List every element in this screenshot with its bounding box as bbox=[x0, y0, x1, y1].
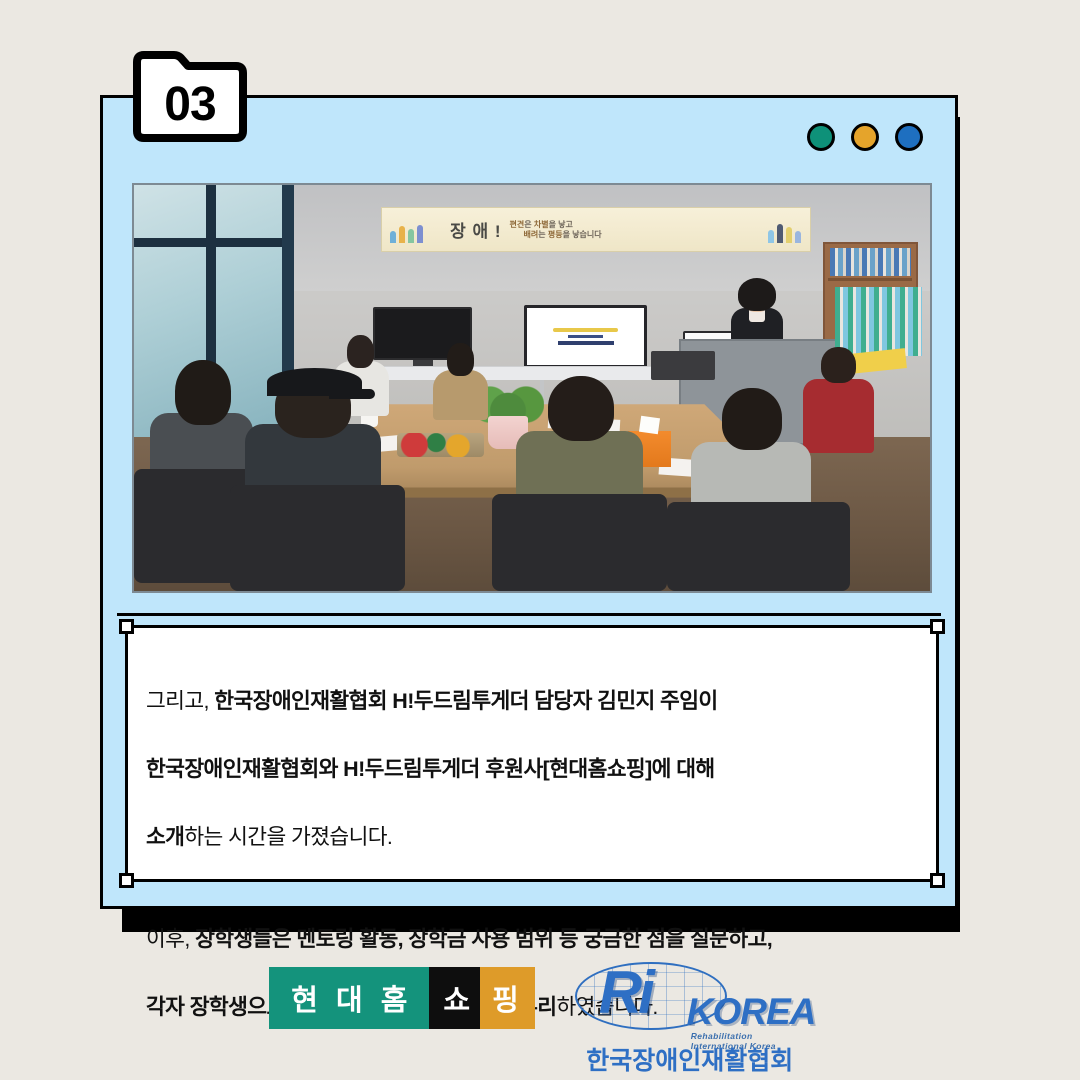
banner-text-2b: 는 bbox=[538, 230, 548, 239]
resize-handle-top-right[interactable] bbox=[930, 619, 945, 634]
flower-arrangement bbox=[397, 433, 485, 457]
banner-word-consideration: 배려 bbox=[524, 230, 539, 239]
folder-tab-badge: 03 bbox=[130, 48, 250, 145]
meeting-room-photo: 장 애 ! 편견은 차별을 낳고 배려는 평등을 낳습니다 bbox=[134, 185, 930, 591]
section-divider bbox=[117, 613, 941, 616]
banner-figures-left bbox=[390, 216, 423, 243]
banner-word-equality: 평등 bbox=[548, 230, 563, 239]
hyundai-home-shopping-logo: 현 대 홈 쇼 핑 bbox=[269, 967, 535, 1029]
chair-front-right bbox=[667, 502, 850, 591]
banner-headline: 장 애 ! bbox=[450, 217, 501, 242]
caption-p1-l3-bold: 소개 bbox=[146, 825, 184, 849]
banner-text-2d: 을 낳습니다 bbox=[563, 230, 602, 239]
ri-korea-logo: Ri KOREA Rehabilitation International Ko… bbox=[569, 957, 811, 1069]
window-mullion-horizontal bbox=[134, 238, 291, 247]
attendee-back-center bbox=[433, 343, 489, 420]
ri-monogram: Ri bbox=[599, 963, 651, 1023]
window-controls[interactable] bbox=[807, 123, 923, 151]
ri-korean-name: 한국장애인재활협회 bbox=[569, 1041, 811, 1077]
dot-orange-icon[interactable] bbox=[851, 123, 879, 151]
dot-blue-icon[interactable] bbox=[895, 123, 923, 151]
banner-word-discrimination: 차별 bbox=[534, 220, 549, 229]
slide-number: 03 bbox=[130, 48, 250, 145]
hyundai-logo-segment-black: 쇼 bbox=[429, 967, 480, 1029]
file-binders bbox=[835, 287, 923, 356]
wall-banner: 장 애 ! 편견은 차별을 낳고 배려는 평등을 낳습니다 bbox=[381, 207, 811, 252]
resize-handle-bottom-right[interactable] bbox=[930, 873, 945, 888]
banner-word-prejudice: 편견 bbox=[510, 220, 525, 229]
chair-front-center bbox=[492, 494, 667, 591]
presentation-monitor bbox=[524, 305, 647, 368]
sponsor-logos: 현 대 홈 쇼 핑 Ri KOREA Rehabilitation Intern… bbox=[0, 955, 1080, 1080]
caption-p2-l1-bold: 장학생들은 멘토링 활동, 장학금 사용 범위 등 궁금한 점을 질문하고, bbox=[195, 927, 772, 951]
printer bbox=[651, 351, 715, 379]
photo-frame: 장 애 ! 편견은 차별을 낳고 배려는 평등을 낳습니다 bbox=[132, 183, 932, 593]
caption-p1-l1-prefix: 그리고, bbox=[146, 689, 214, 713]
caption-p1-l2: 한국장애인재활협회와 H!두드림투게더 후원사[현대홈쇼핑]에 대해 bbox=[146, 757, 715, 781]
caption-p1-l3-rest: 하는 시간을 가졌습니다. bbox=[184, 825, 392, 849]
content-card: 03 장 애 ! bbox=[100, 95, 958, 909]
hyundai-logo-segment-gold: 핑 bbox=[480, 967, 535, 1029]
banner-figures-right bbox=[768, 216, 801, 243]
ri-wordmark: KOREA bbox=[687, 993, 816, 1030]
chair-front-cap bbox=[230, 485, 405, 591]
resize-handle-bottom-left[interactable] bbox=[119, 873, 134, 888]
caption-p2-l1-prefix: 이후, bbox=[146, 927, 195, 951]
hyundai-logo-segment-teal: 현 대 홈 bbox=[269, 967, 429, 1029]
attendee-right-red bbox=[803, 347, 875, 453]
dot-green-icon[interactable] bbox=[807, 123, 835, 151]
caption-text-box[interactable]: 그리고, 한국장애인재활협회 H!두드림투게더 담당자 김민지 주임이 한국장애… bbox=[125, 625, 939, 882]
caption-paragraph-1: 그리고, 한국장애인재활협회 H!두드림투게더 담당자 김민지 주임이 한국장애… bbox=[146, 650, 916, 854]
banner-text-1b: 은 bbox=[524, 220, 534, 229]
caption-p1-l1-bold: 한국장애인재활협회 H!두드림투게더 담당자 김민지 주임이 bbox=[214, 689, 717, 713]
banner-subtext: 편견은 차별을 낳고 배려는 평등을 낳습니다 bbox=[510, 220, 602, 240]
resize-handle-top-left[interactable] bbox=[119, 619, 134, 634]
banner-text-1d: 을 낳고 bbox=[549, 220, 573, 229]
